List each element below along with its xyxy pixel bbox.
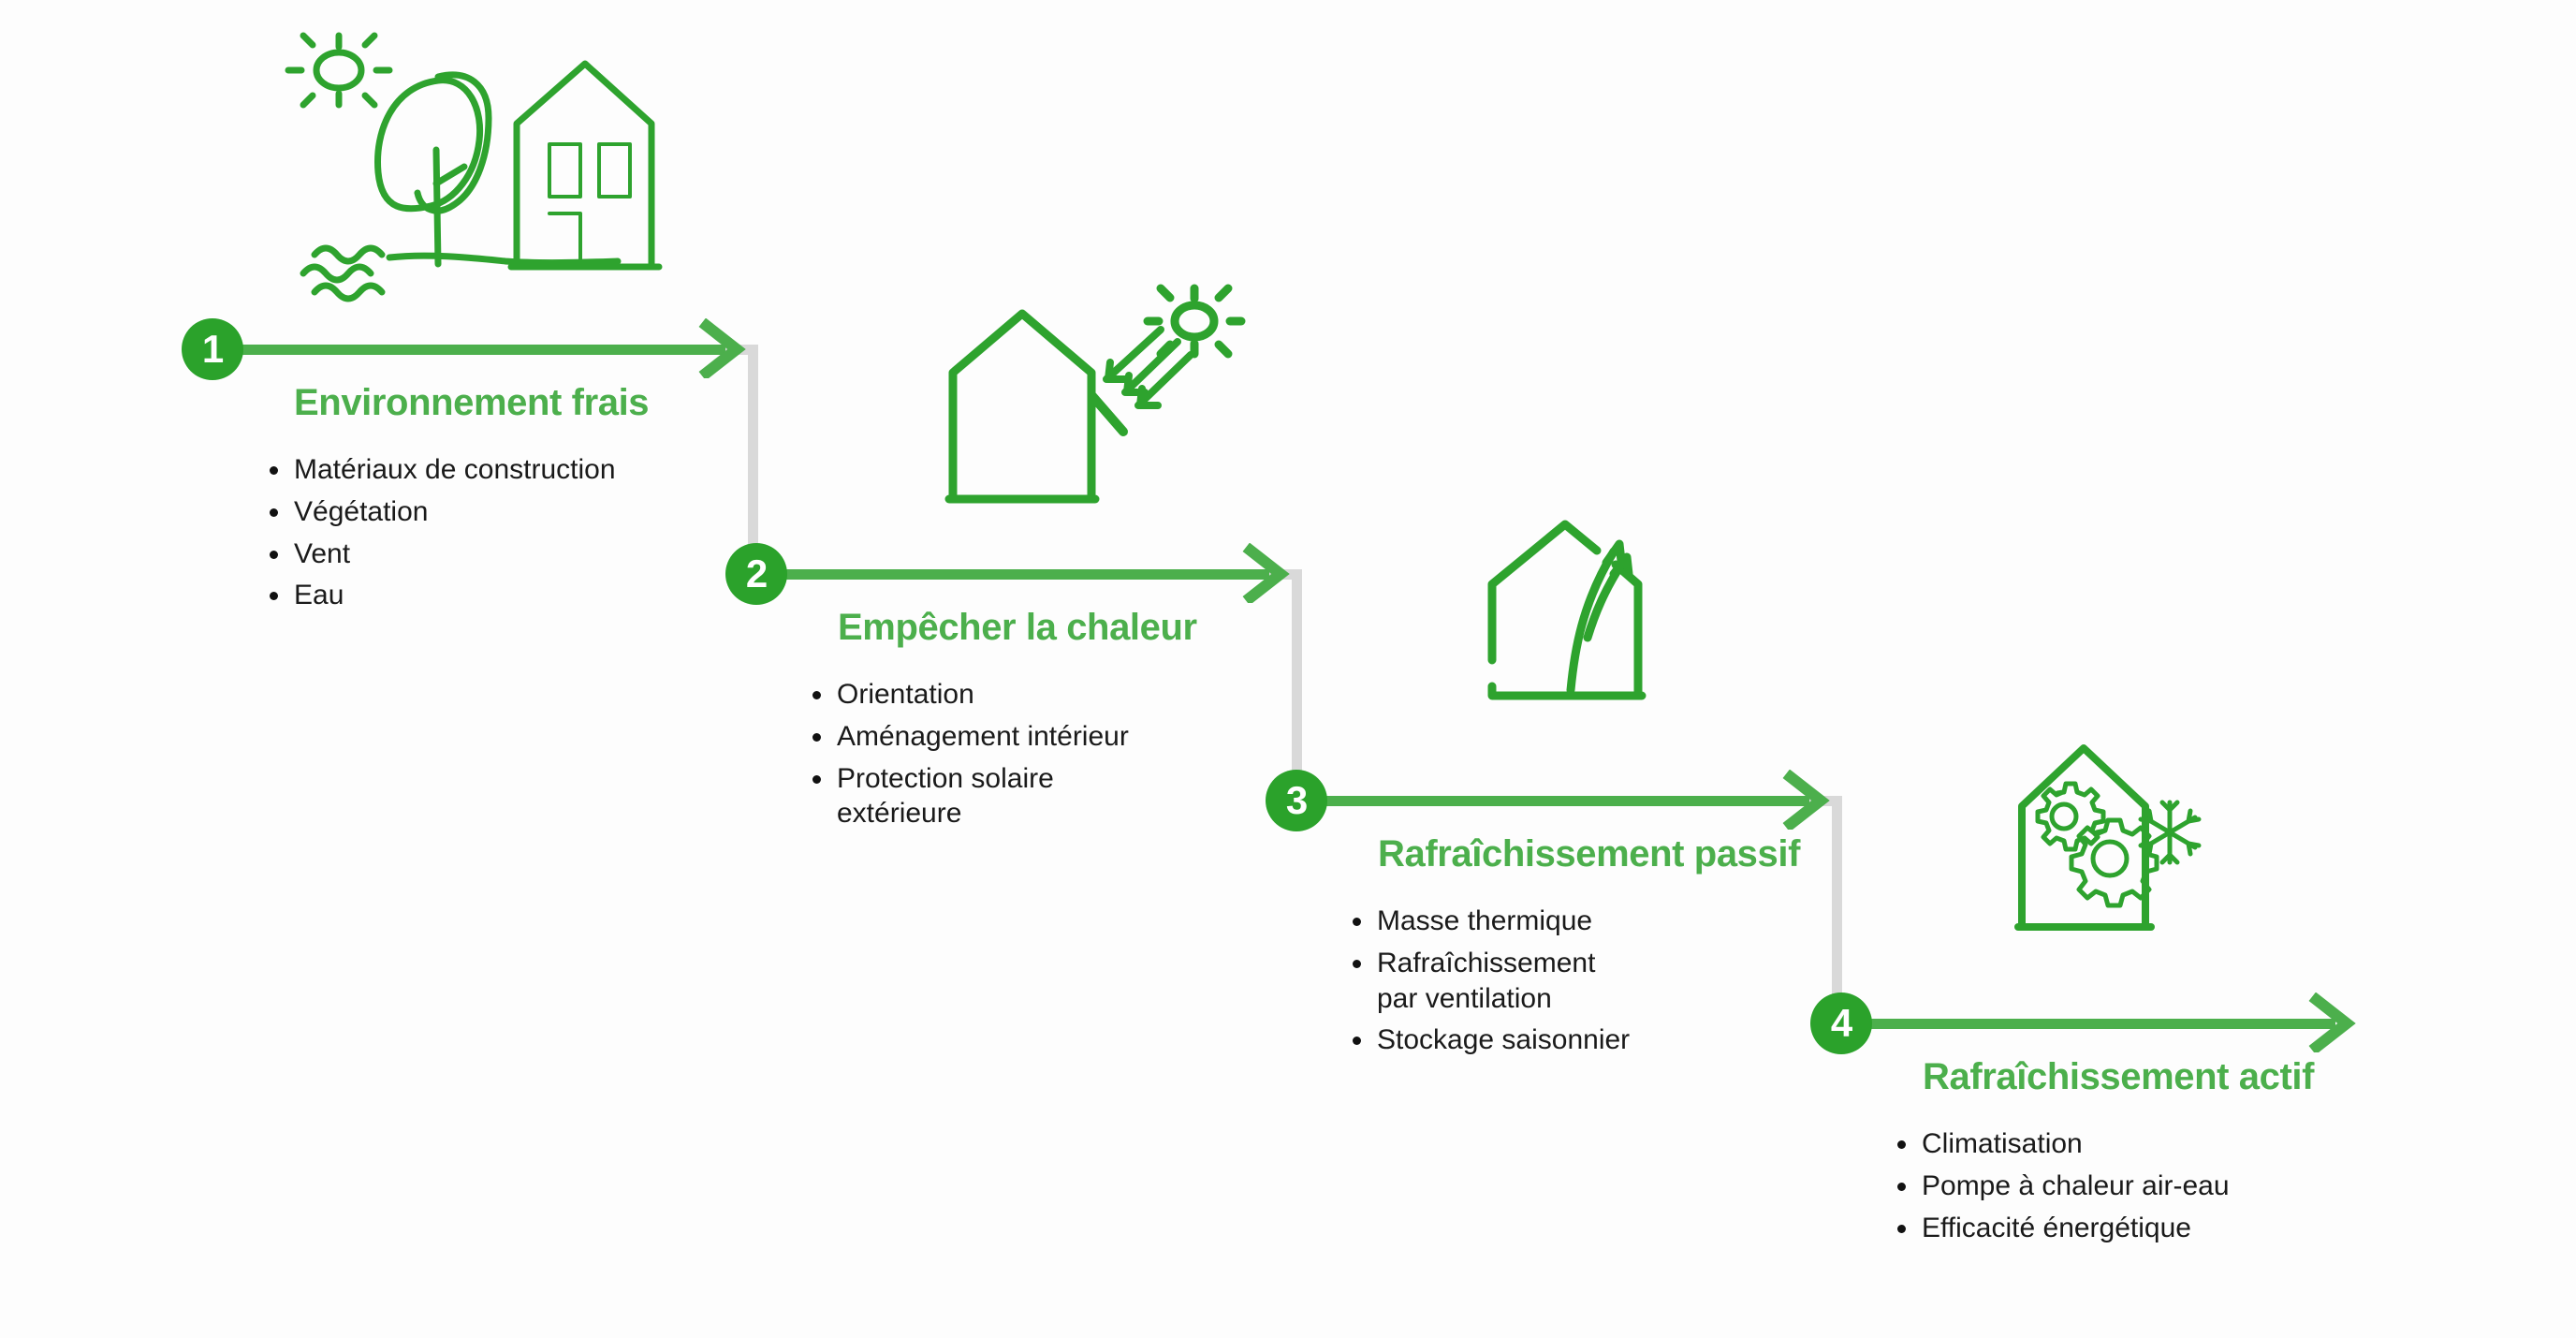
list-item: Pompe à chaleur air-eau	[1922, 1169, 2390, 1204]
step-bullets-2: Orientation Aménagement intérieur Protec…	[805, 677, 1277, 838]
list-item: Eau	[294, 578, 734, 613]
list-item: Végétation	[294, 494, 734, 530]
step-number-3: 3	[1286, 781, 1307, 820]
list-item: Protection solaire extérieure	[837, 761, 1277, 832]
step-title-2: Empêcher la chaleur	[838, 607, 1197, 649]
step-arrow-line-1	[239, 345, 725, 355]
step-arrow-head-2	[1241, 543, 1292, 603]
step-number-1: 1	[202, 330, 223, 369]
step-badge-4: 4	[1810, 992, 1872, 1054]
step-title-1: Environnement frais	[294, 382, 649, 424]
step-badge-2: 2	[725, 543, 787, 605]
step-bullets-3: Masse thermique Rafraîchissement par ven…	[1345, 904, 1817, 1065]
step-arrow-line-3	[1323, 796, 1809, 806]
diagram-canvas: 1 Environnement frais Matériaux de const…	[0, 0, 2576, 1338]
step-arrow-head-1	[697, 318, 748, 378]
step-number-4: 4	[1831, 1004, 1851, 1043]
step-title-3: Rafraîchissement passif	[1378, 833, 1800, 875]
step-arrow-head-3	[1781, 770, 1832, 830]
house-gears-snowflake-icon	[2011, 735, 2217, 946]
step-number-2: 2	[746, 554, 767, 594]
sun-tree-house-water-icon	[281, 19, 683, 328]
step-arrow-line-4	[1867, 1019, 2335, 1029]
list-item: Vent	[294, 537, 734, 572]
step-arrow-line-2	[783, 569, 1269, 580]
list-item: Aménagement intérieur	[837, 719, 1277, 755]
house-ventilation-arrows-icon	[1477, 510, 1674, 721]
list-item: Rafraîchissement par ventilation	[1377, 946, 1817, 1017]
house-sunshade-rays-icon	[936, 276, 1273, 510]
list-item: Matériaux de construction	[294, 452, 734, 488]
step-bullets-1: Matériaux de construction Végétation Ven…	[262, 452, 734, 620]
step-arrow-head-4	[2307, 992, 2358, 1052]
list-item: Efficacité énergétique	[1922, 1211, 2390, 1246]
list-item: Climatisation	[1922, 1126, 2390, 1162]
list-item: Masse thermique	[1377, 904, 1817, 939]
step-bullets-4: Climatisation Pompe à chaleur air-eau Ef…	[1890, 1126, 2390, 1252]
list-item: Orientation	[837, 677, 1277, 713]
step-badge-1: 1	[182, 318, 243, 380]
list-item: Stockage saisonnier	[1377, 1022, 1817, 1058]
step-title-4: Rafraîchissement actif	[1923, 1056, 2314, 1098]
